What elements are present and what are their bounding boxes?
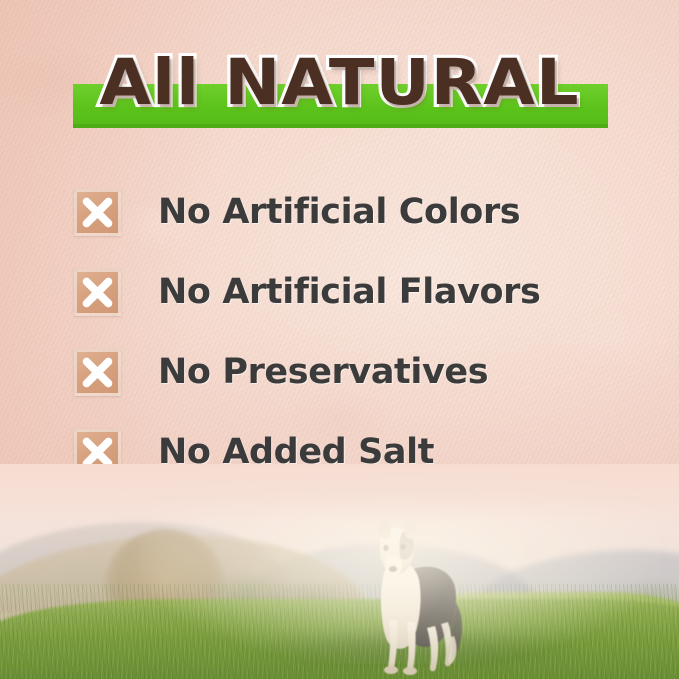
- page-title: All NATURAL: [0, 48, 679, 118]
- all-natural-infographic: All NATURAL No Artificial Colors: [0, 0, 679, 679]
- photo-top-blend: [0, 464, 679, 522]
- list-item: No Artificial Colors: [74, 172, 634, 252]
- benefit-list: No Artificial Colors No Artificial Flavo…: [74, 172, 634, 492]
- dog-illustration: [355, 504, 475, 679]
- list-item-label: No Preservatives: [158, 352, 488, 392]
- grass-texture: [0, 584, 679, 679]
- x-mark-icon: [74, 349, 121, 396]
- list-item-label: No Artificial Flavors: [158, 272, 540, 312]
- x-mark-icon: [74, 189, 121, 236]
- x-mark-icon: [74, 269, 121, 316]
- list-item-label: No Artificial Colors: [158, 192, 520, 232]
- list-item: No Artificial Flavors: [74, 252, 634, 332]
- list-item: No Preservatives: [74, 332, 634, 412]
- landscape-photo: [0, 464, 679, 679]
